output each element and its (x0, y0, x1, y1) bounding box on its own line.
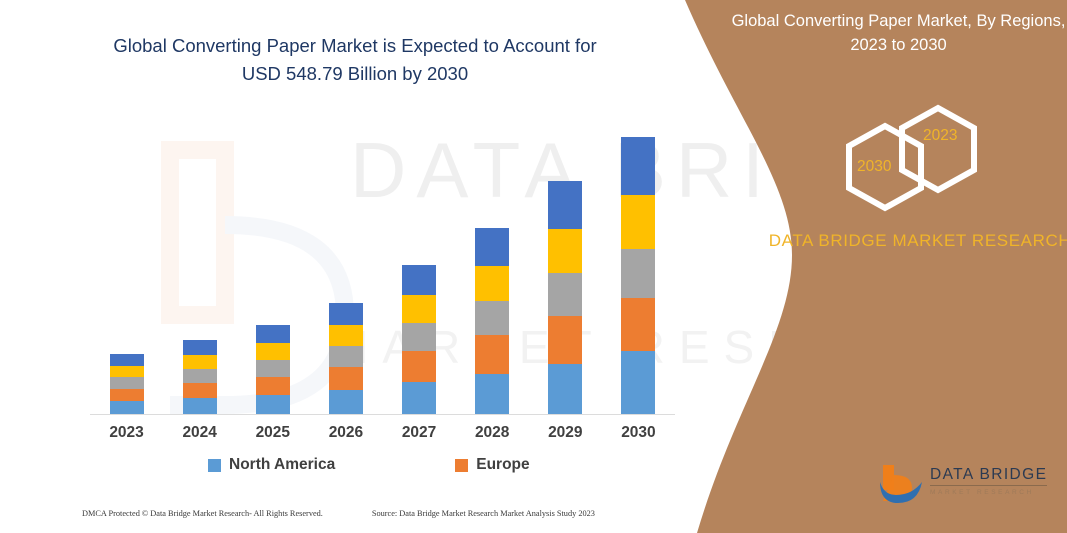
bar-segment-south-america (110, 366, 144, 377)
bar-segment-europe (548, 316, 582, 364)
bar-segment-asia-pacific (621, 249, 655, 298)
stacked-bar (183, 340, 217, 414)
legend-label: North America (229, 456, 335, 474)
footer-copyright: DMCA Protected © Data Bridge Market Rese… (82, 509, 323, 518)
bar-column-2023 (92, 122, 162, 414)
hexagon-label-2030: 2030 (857, 158, 891, 176)
stacked-bar-chart (90, 120, 675, 415)
hexagons-icon (825, 100, 1005, 220)
bar-segment-north-america (402, 382, 436, 414)
x-axis-label-2029: 2029 (530, 424, 600, 442)
stacked-bar (548, 181, 582, 414)
stacked-bar (402, 265, 436, 414)
brand-panel (667, 0, 1067, 533)
bar-segment-mea (256, 325, 290, 343)
stacked-bar (621, 137, 655, 414)
bar-segment-europe (110, 389, 144, 401)
stacked-bar (256, 325, 290, 414)
x-axis-label-2026: 2026 (311, 424, 381, 442)
bar-segment-south-america (548, 229, 582, 273)
bar-segment-europe (621, 298, 655, 351)
bar-column-2024 (165, 122, 235, 414)
bar-segment-north-america (183, 398, 217, 414)
bar-column-2028 (457, 122, 527, 414)
bar-segment-mea (110, 354, 144, 366)
bar-segment-south-america (183, 355, 217, 369)
bar-segment-mea (183, 340, 217, 355)
stacked-bar (110, 354, 144, 414)
legend-swatch-icon (208, 459, 221, 472)
bar-segment-mea (548, 181, 582, 229)
bar-segment-north-america (548, 364, 582, 414)
legend-item-europe[interactable]: Europe (455, 456, 529, 474)
bar-segment-south-america (256, 343, 290, 360)
bar-segment-mea (621, 137, 655, 195)
legend-swatch-icon (455, 459, 468, 472)
bar-column-2025 (238, 122, 308, 414)
x-axis-label-2025: 2025 (238, 424, 308, 442)
bar-segment-north-america (110, 401, 144, 414)
panel-title: Global Converting Paper Market, By Regio… (730, 10, 1067, 58)
bar-segment-south-america (621, 195, 655, 249)
x-axis-label-2027: 2027 (384, 424, 454, 442)
bar-segment-south-america (402, 295, 436, 323)
brand-panel-shape (667, 0, 1067, 533)
bar-segment-north-america (256, 395, 290, 414)
x-axis-label-2024: 2024 (165, 424, 235, 442)
bar-segment-north-america (475, 374, 509, 414)
bar-segment-asia-pacific (256, 360, 290, 377)
bar-segment-asia-pacific (548, 273, 582, 316)
x-axis-label-2023: 2023 (92, 424, 162, 442)
chart-plot-area (90, 122, 675, 415)
stacked-bar (329, 303, 363, 414)
bar-segment-europe (402, 351, 436, 382)
legend-label: Europe (476, 456, 529, 474)
data-bridge-b-icon (878, 462, 924, 506)
bar-segment-asia-pacific (402, 323, 436, 351)
chart-x-axis-labels: 20232024202520262027202820292030 (90, 424, 675, 442)
brand-name: DATA BRIDGE MARKET RESEARCH (760, 228, 1067, 254)
hexagon-group: 2023 2030 (825, 100, 1005, 220)
bar-column-2029 (530, 122, 600, 414)
bar-segment-mea (329, 303, 363, 325)
bar-segment-south-america (329, 325, 363, 346)
bar-segment-europe (183, 383, 217, 398)
bar-segment-asia-pacific (475, 301, 509, 335)
legend-item-north-america[interactable]: North America (208, 456, 335, 474)
bar-segment-asia-pacific (110, 377, 144, 389)
footer-source: Source: Data Bridge Market Research Mark… (372, 509, 595, 518)
bar-segment-south-america (475, 266, 509, 301)
stacked-bar (475, 228, 509, 414)
x-axis-label-2028: 2028 (457, 424, 527, 442)
footer: DMCA Protected © Data Bridge Market Rese… (82, 509, 682, 518)
company-logo: DATA BRIDGE MARKET RESEARCH (878, 462, 1063, 508)
bar-segment-europe (329, 367, 363, 390)
logo-sub-text: MARKET RESEARCH (930, 489, 1047, 496)
bar-column-2030 (603, 122, 673, 414)
logo-wordmark: DATA BRIDGE MARKET RESEARCH (930, 466, 1047, 496)
bar-segment-mea (475, 228, 509, 266)
bar-segment-north-america (621, 351, 655, 414)
bar-segment-asia-pacific (183, 369, 217, 383)
bar-segment-asia-pacific (329, 346, 363, 367)
bar-segment-europe (256, 377, 290, 395)
bar-segment-mea (402, 265, 436, 295)
hexagon-label-2023: 2023 (923, 127, 957, 145)
x-axis-label-2030: 2030 (603, 424, 673, 442)
bar-column-2027 (384, 122, 454, 414)
infographic-root: DATA BRIDGE MARKET RESEARCH Global Conve… (0, 0, 1067, 533)
page-title: Global Converting Paper Market is Expect… (95, 32, 615, 88)
bar-segment-europe (475, 335, 509, 374)
chart-legend: North AmericaEurope (120, 456, 640, 474)
bar-column-2026 (311, 122, 381, 414)
logo-main-text: DATA BRIDGE (930, 466, 1047, 486)
bar-segment-north-america (329, 390, 363, 414)
